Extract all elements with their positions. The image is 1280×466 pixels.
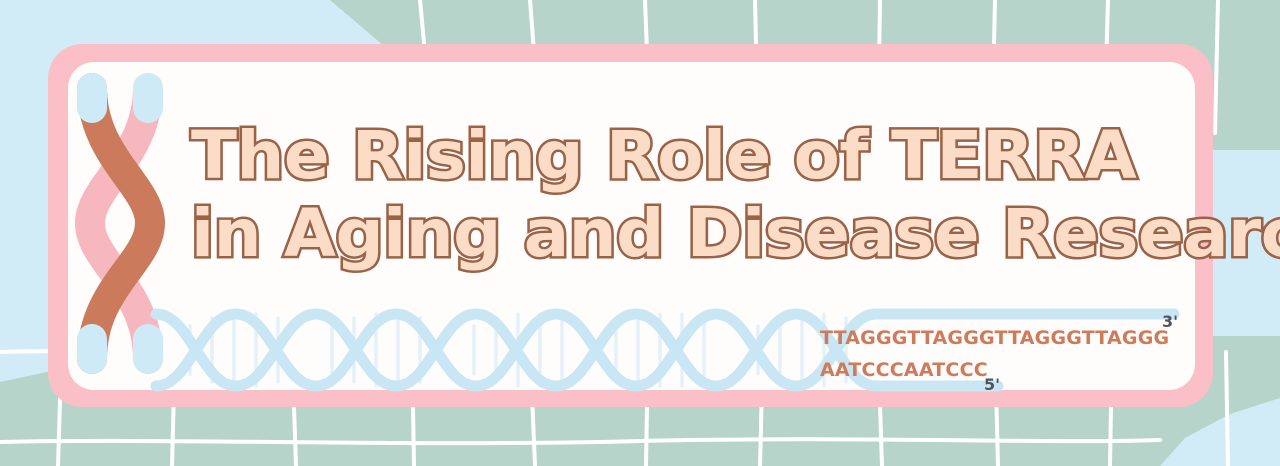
sequence-top-strand: TTAGGGTTAGGGTTAGGGTTAGGG	[820, 322, 1169, 354]
banner-title: The Rising Role of TERRA in Aging and Di…	[191, 117, 1251, 273]
sequence-end-label-5prime: 5'	[984, 375, 1000, 394]
title-line-2: in Aging and Disease Research	[191, 195, 1272, 273]
title-line-1: The Rising Role of TERRA	[191, 117, 1272, 195]
sequence-end-label-3prime: 3'	[1162, 312, 1178, 331]
chromosome-icon	[70, 66, 192, 381]
banner-root: The Rising Role of TERRA in Aging and Di…	[0, 0, 1280, 466]
